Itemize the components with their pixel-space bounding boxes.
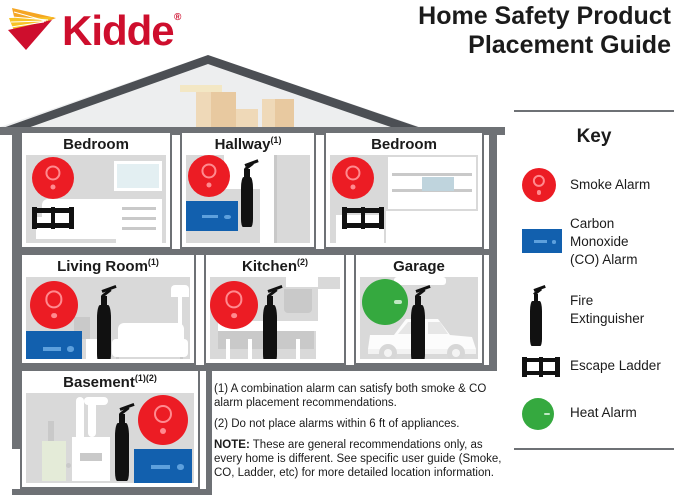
room-bedroom-left[interactable]: Bedroom xyxy=(20,131,172,249)
shelf-line xyxy=(392,173,472,176)
room-garage[interactable]: Garage xyxy=(354,253,484,365)
room-basement[interactable]: Basement(1)(2) xyxy=(20,369,200,489)
note-1: (1) A combination alarm can satisfy both… xyxy=(214,382,504,410)
smoke-alarm-icon[interactable] xyxy=(210,281,258,329)
garage-door xyxy=(394,277,446,285)
co-alarm-icon[interactable] xyxy=(26,331,82,359)
roof xyxy=(0,55,505,135)
room-scene xyxy=(26,277,190,359)
heat-alarm-icon xyxy=(522,398,566,434)
smoke-alarm-icon xyxy=(522,168,566,204)
room-kitchen[interactable]: Kitchen(2) xyxy=(204,253,346,365)
room-scene xyxy=(330,155,478,243)
wall-cabinet xyxy=(318,289,340,323)
stool xyxy=(226,339,230,359)
key-item-label: Heat Alarm xyxy=(570,404,678,422)
window xyxy=(114,161,162,191)
stool xyxy=(296,339,300,359)
smoke-alarm-icon[interactable] xyxy=(30,281,78,329)
pipe xyxy=(76,397,84,441)
page-title: Home Safety Product Placement Guide xyxy=(341,2,671,60)
brand-logo: Kidde ® xyxy=(6,4,206,60)
fire-extinguisher-icon xyxy=(522,288,566,324)
lower-cabinet xyxy=(316,331,340,359)
fire-extinguisher-icon[interactable] xyxy=(236,163,258,227)
brand-wordmark: Kidde xyxy=(62,10,174,52)
room-scene xyxy=(26,155,166,243)
fire-extinguisher-icon[interactable] xyxy=(92,289,116,359)
wall-basement-right xyxy=(206,365,212,495)
fire-extinguisher-icon[interactable] xyxy=(258,289,282,359)
room-scene xyxy=(186,155,310,243)
room-label: Bedroom xyxy=(326,135,482,153)
water-heater xyxy=(42,441,66,481)
fire-extinguisher-icon[interactable] xyxy=(406,289,430,359)
room-living-room[interactable]: Living Room(1) xyxy=(20,253,196,365)
dresser-line xyxy=(122,217,156,220)
room-scene xyxy=(360,277,478,359)
key-item-label: Escape Ladder xyxy=(570,357,678,375)
escape-ladder-icon xyxy=(522,355,566,391)
note-3: NOTE: These are general recommendations … xyxy=(214,438,504,480)
room-scene xyxy=(26,393,194,483)
room-label: Garage xyxy=(356,257,482,275)
door-frame xyxy=(274,155,277,243)
key-item-label: Carbon Monoxide (CO) Alarm xyxy=(570,215,678,269)
room-bedroom-right[interactable]: Bedroom xyxy=(324,131,484,249)
upper-cabinet xyxy=(286,277,318,287)
room-label: Living Room(1) xyxy=(22,257,194,275)
key-item-label: Smoke Alarm xyxy=(570,176,678,194)
co-alarm-icon xyxy=(522,215,566,251)
key-item-label: Fire Extinguisher xyxy=(570,292,678,328)
co-alarm-icon[interactable] xyxy=(186,201,238,231)
room-hallway[interactable]: Hallway(1) xyxy=(180,131,316,249)
smoke-alarm-icon[interactable] xyxy=(32,157,74,199)
range-hood xyxy=(284,289,312,313)
lamp-pole xyxy=(178,295,182,355)
door xyxy=(260,155,274,243)
heater-pipe xyxy=(48,421,54,441)
stool xyxy=(248,339,252,359)
registered-mark: ® xyxy=(174,12,181,23)
escape-ladder-icon[interactable] xyxy=(342,207,384,229)
room-label: Basement(1)(2) xyxy=(22,373,198,391)
key-panel: Key Smoke Alarm Carbon Monoxide (CO) Ala… xyxy=(514,110,674,450)
dresser xyxy=(116,199,162,243)
pipe xyxy=(88,397,96,437)
sofa-leg xyxy=(116,357,119,359)
co-alarm-icon[interactable] xyxy=(134,449,192,483)
room-label: Bedroom xyxy=(22,135,170,153)
key-divider-top xyxy=(514,110,674,112)
smoke-alarm-icon[interactable] xyxy=(332,157,374,199)
infographic-root: Kidde ® Home Safety Product Placement Gu… xyxy=(0,0,679,495)
furnace-panel xyxy=(80,453,102,461)
dresser-line xyxy=(122,227,156,230)
note-3-label: NOTE: xyxy=(214,439,250,451)
foundation xyxy=(12,489,212,495)
sofa-seat xyxy=(112,339,188,357)
escape-ladder-icon[interactable] xyxy=(32,207,74,229)
wall-left xyxy=(12,129,20,449)
valve xyxy=(66,463,71,468)
sofa-leg xyxy=(180,357,183,359)
room-label: Hallway(1) xyxy=(182,135,314,153)
room-scene xyxy=(210,277,340,359)
notes-block: (1) A combination alarm can satisfy both… xyxy=(214,382,504,492)
smoke-alarm-icon[interactable] xyxy=(188,155,230,197)
tv xyxy=(422,177,454,191)
smoke-alarm-icon[interactable] xyxy=(138,395,188,445)
key-title: Key xyxy=(514,126,674,148)
desk xyxy=(386,211,478,243)
key-divider-bottom xyxy=(514,448,674,450)
heat-alarm-icon[interactable] xyxy=(362,279,408,325)
page-title-line1: Home Safety Product xyxy=(341,2,671,31)
room-label: Kitchen(2) xyxy=(206,257,344,275)
note-3-text: These are general recommendations only, … xyxy=(214,439,501,479)
kidde-flame-logo-icon xyxy=(6,4,62,58)
note-2: (2) Do not place alarms within 6 ft of a… xyxy=(214,417,504,431)
dresser-line xyxy=(122,207,156,210)
fire-extinguisher-icon[interactable] xyxy=(110,407,134,481)
